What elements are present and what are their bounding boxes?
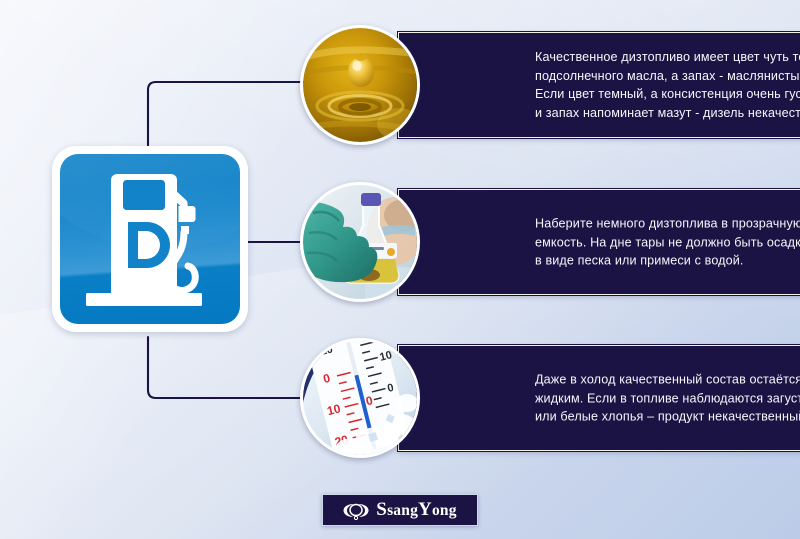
- step-2-panel: Наберите немного дизтоплива в прозрачную…: [398, 189, 800, 295]
- lab-flask-photo: [300, 182, 420, 302]
- fuel-pump-icon: [60, 154, 240, 324]
- ssangyong-brand-bar: SsangYong: [322, 494, 478, 526]
- wordmark-ong: ong: [432, 502, 457, 519]
- step-1-panel: Качественное дизтопливо имеет цвет чуть …: [398, 32, 800, 138]
- infographic-root: Качественное дизтопливо имеет цвет чуть …: [0, 0, 800, 539]
- step-2-text: Наберите немного дизтоплива в прозрачную…: [535, 214, 800, 270]
- ssangyong-wordmark: SsangYong: [376, 499, 456, 521]
- wordmark-sang: sang: [387, 502, 418, 519]
- thermometer-snow-photo: 20 10 0 10: [300, 338, 420, 458]
- wordmark-s1: S: [376, 499, 387, 520]
- wordmark-y: Y: [418, 499, 432, 520]
- ssangyong-wings-emblem: [343, 501, 369, 520]
- oil-droplet-photo: [300, 25, 420, 145]
- step-3-text: Даже в холод качественный состав остаётс…: [535, 370, 800, 426]
- step-3-panel: Даже в холод качественный состав остаётс…: [398, 345, 800, 451]
- diesel-icon-tile: [52, 146, 248, 332]
- icon-tile-face: [60, 154, 240, 324]
- step-1-text: Качественное дизтопливо имеет цвет чуть …: [535, 48, 800, 122]
